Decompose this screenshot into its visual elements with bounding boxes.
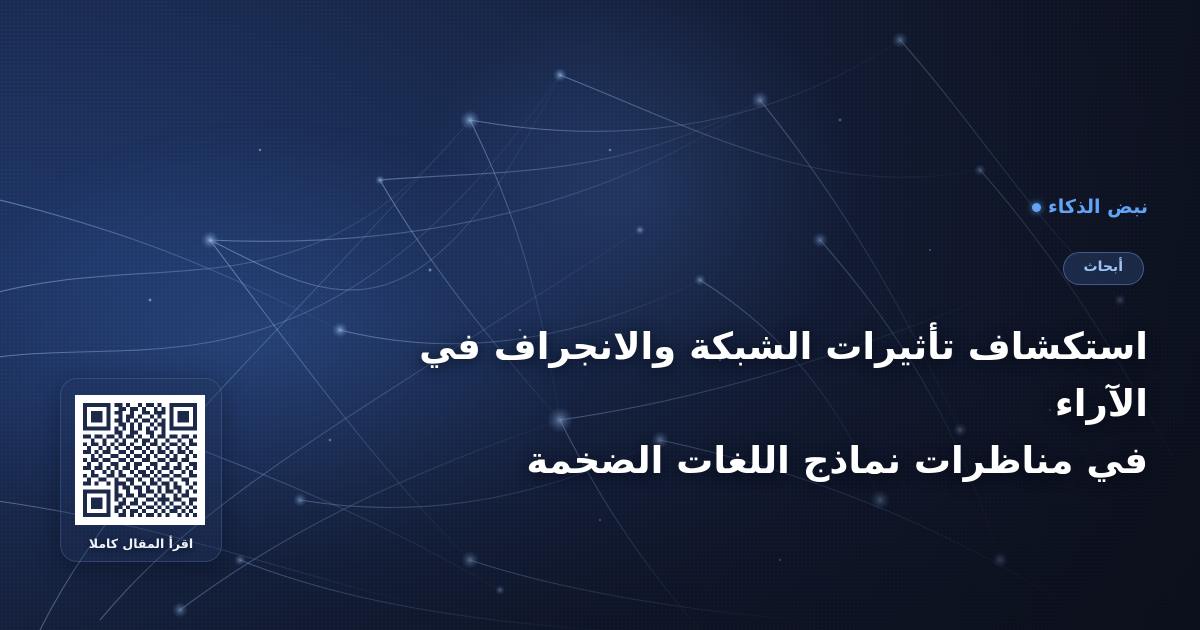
- brand-dot-icon: [1032, 203, 1041, 212]
- page-title: استكشاف تأثيرات الشبكة والانجراف في الآر…: [368, 318, 1148, 489]
- qr-code-caption: اقرأ المقال كاملا: [77, 536, 205, 551]
- category-badge[interactable]: أبحاث: [1063, 252, 1144, 285]
- page-title-line-2: في مناظرات نماذج اللغات الضخمة: [368, 432, 1148, 489]
- content-column: نبض الذكاء أبحاث استكشاف تأثيرات الشبكة …: [368, 0, 1148, 630]
- page-title-line-1: استكشاف تأثيرات الشبكة والانجراف في الآر…: [368, 318, 1148, 432]
- social-share-card: نبض الذكاء أبحاث استكشاف تأثيرات الشبكة …: [0, 0, 1200, 630]
- brand-lockup: نبض الذكاء: [1032, 198, 1148, 217]
- qr-code-icon[interactable]: [75, 395, 205, 525]
- brand-name: نبض الذكاء: [1048, 198, 1148, 217]
- qr-code-card[interactable]: اقرأ المقال كاملا: [60, 378, 222, 562]
